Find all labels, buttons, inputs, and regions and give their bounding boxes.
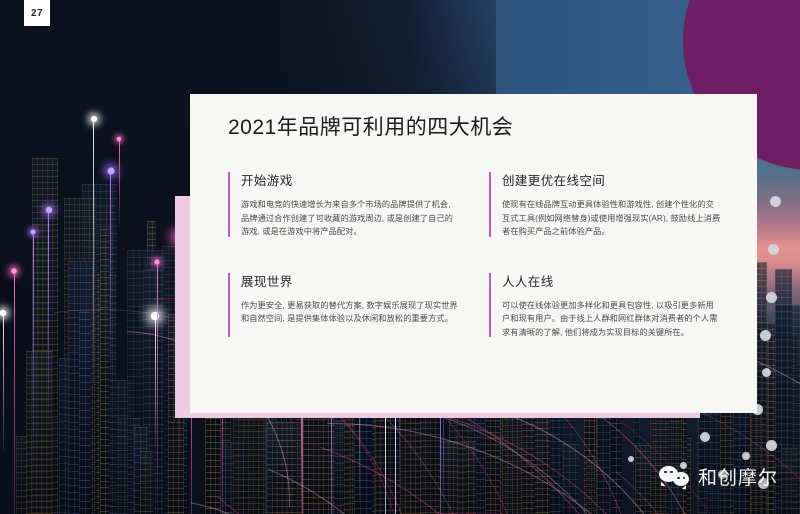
content-card: 2021年品牌可利用的四大机会 开始游戏 游戏和电竞的快速增长为来自多个市场的品… (190, 94, 757, 413)
opportunity-grid: 开始游戏 游戏和电竞的快速增长为来自多个市场的品牌提供了机会, 品牌通过合作创建… (228, 170, 722, 339)
accent-bar (489, 172, 491, 237)
opportunity-heading: 展现世界 (241, 271, 461, 290)
page-title: 2021年品牌可利用的四大机会 (228, 111, 513, 141)
page-number-chip: 27 (24, 0, 50, 26)
opportunity-heading: 人人在线 (502, 271, 722, 290)
opportunity-item-3: 人人在线 可以使在线体验更加多样化和更具包容性, 以吸引更多新用户和现有用户。由… (489, 271, 722, 340)
opportunity-heading: 创建更优在线空间 (502, 170, 722, 189)
opportunity-item-2: 展现世界 作为更安全, 更易获取的替代方案, 数字娱乐展现了现实世界和自然空间,… (228, 271, 461, 340)
opportunity-body: 作为更安全, 更易获取的替代方案, 数字娱乐展现了现实世界和自然空间, 是提供集… (241, 299, 461, 326)
page-number: 27 (31, 8, 43, 19)
opportunity-heading: 开始游戏 (241, 170, 461, 189)
opportunity-item-1: 创建更优在线空间 使现有在线品牌互动更具体验性和游戏性, 创建个性化的交互式工具… (489, 170, 722, 239)
opportunity-body: 游戏和电竞的快速增长为来自多个市场的品牌提供了机会, 品牌通过合作创建了可收藏的… (241, 198, 461, 239)
opportunity-item-0: 开始游戏 游戏和电竞的快速增长为来自多个市场的品牌提供了机会, 品牌通过合作创建… (228, 170, 461, 239)
wechat-icon (659, 465, 689, 489)
wechat-watermark: 和创摩尔 (659, 463, 778, 490)
watermark-label: 和创摩尔 (698, 463, 778, 490)
accent-bar (228, 172, 230, 237)
opportunity-body: 可以使在线体验更加多样化和更具包容性, 以吸引更多新用户和现有用户。由于线上人群… (502, 299, 722, 340)
accent-bar (489, 273, 491, 338)
opportunity-body: 使现有在线品牌互动更具体验性和游戏性, 创建个性化的交互式工具(例如网络替身)或… (502, 198, 722, 239)
presentation-slide: 27 2021年品牌可利用的四大机会 开始游戏 游戏和电竞的快速增长为来自多个市… (0, 0, 800, 514)
accent-bar (228, 273, 230, 338)
